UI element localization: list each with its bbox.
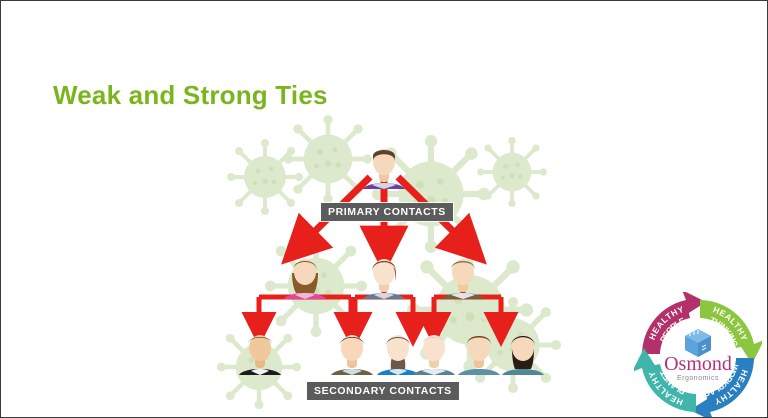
logo-subbrand-text: Ergonomics <box>677 375 719 382</box>
logo-brand-text: Osmond <box>664 353 732 375</box>
label-primary-contacts: PRIMARY CONTACTS <box>321 203 453 221</box>
slide-canvas: Weak and Strong Ties <box>0 0 768 418</box>
person-primary-contact-2[interactable] <box>362 253 406 299</box>
person-secondary-contact-5[interactable] <box>457 329 501 375</box>
person-primary-contact-1[interactable] <box>283 253 327 299</box>
person-primary-contact-3[interactable] <box>441 253 485 299</box>
page-title: Weak and Strong Ties <box>53 80 328 111</box>
person-index-case[interactable] <box>362 143 406 189</box>
person-secondary-contact-1[interactable] <box>238 329 282 375</box>
label-secondary-contacts: SECONDARY CONTACTS <box>307 382 459 400</box>
person-secondary-contact-6[interactable] <box>501 329 545 375</box>
contact-tracing-diagram: PRIMARY CONTACTS SECONDARY CONTACTS <box>229 129 539 407</box>
osmond-ergonomics-logo[interactable]: HEALTHY HEALTHY HEALTHY HEALTHY PEOPLE T… <box>634 292 762 418</box>
person-secondary-spacer <box>334 329 378 375</box>
person-secondary-contact-4[interactable] <box>412 329 456 375</box>
